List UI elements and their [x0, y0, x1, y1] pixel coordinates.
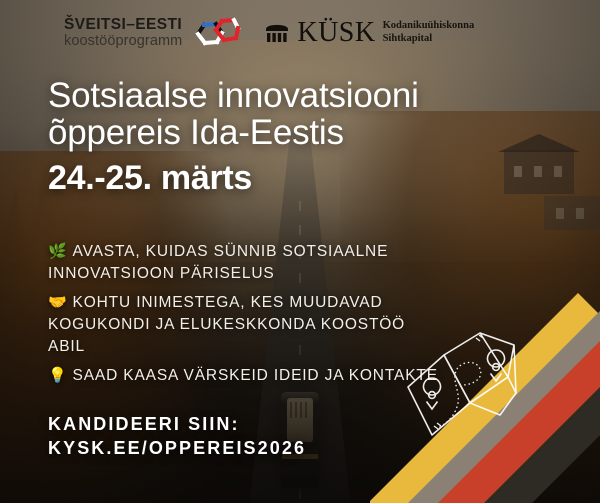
kusk-subline: Kodanikuühiskonna Sihtkapital	[383, 20, 475, 46]
logo-bar: ŠVEITSI–EESTI koostööprogramm	[0, 0, 600, 66]
swiss-estonian-line2: koostööprogramm	[64, 34, 182, 49]
kusk-subline1: Kodanikuühiskonna	[383, 20, 475, 33]
list-item-text: AVASTA, KUIDAS SÜNNIB SOTSIAALNE INNOVAT…	[48, 243, 388, 282]
list-item: 🤝KOHTU INIMESTEGA, KES MUUDAVAD KOGUKOND…	[48, 292, 438, 358]
swiss-estonian-line1: ŠVEITSI–EESTI	[64, 17, 182, 33]
seedling-icon: 🌿	[48, 243, 68, 260]
map-pin	[488, 350, 505, 381]
event-date: 24.-25. märts	[48, 160, 560, 197]
classical-building-pillars-icon	[264, 20, 290, 46]
list-item-text: KOHTU INIMESTEGA, KES MUUDAVAD KOGUKONDI…	[48, 294, 405, 355]
page-title: Sotsiaalse innovatsiooni õppereis Ida-Ee…	[48, 78, 560, 152]
folded-map-with-location-pins	[404, 329, 554, 449]
map-pin	[424, 378, 441, 409]
list-item-text: SAAD KAASA VÄRSKEID IDEID JA KONTAKTE	[73, 367, 438, 384]
lightbulb-icon: 💡	[48, 367, 68, 384]
kusk-logo: KÜSK Kodanikuühiskonna Sihtkapital	[264, 19, 474, 47]
kusk-wordmark: KÜSK	[297, 19, 375, 47]
map-route-path	[440, 362, 481, 427]
headline-line2: õppereis Ida-Eestis	[48, 113, 344, 152]
headline-line1: Sotsiaalse innovatsiooni	[48, 76, 419, 115]
list-item: 🌿AVASTA, KUIDAS SÜNNIB SOTSIAALNE INNOVA…	[48, 241, 438, 285]
list-item: 💡SAAD KAASA VÄRSKEID IDEID JA KONTAKTE	[48, 365, 438, 387]
swiss-estonian-wordmark: ŠVEITSI–EESTI koostööprogramm	[64, 17, 182, 49]
poster-canvas: ŠVEITSI–EESTI koostööprogramm	[0, 0, 600, 503]
interlocking-hexagons-logo-mark	[192, 13, 244, 53]
swiss-estonian-logo: ŠVEITSI–EESTI koostööprogramm	[64, 13, 244, 53]
kusk-subline2: Sihtkapital	[383, 33, 475, 46]
handshake-icon: 🤝	[48, 294, 68, 311]
